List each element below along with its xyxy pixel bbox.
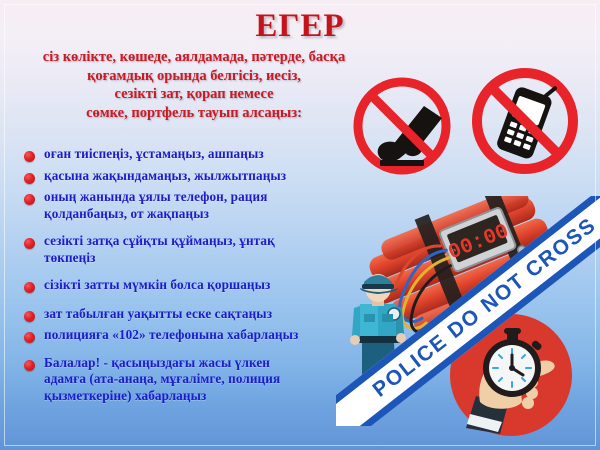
list-item-line: оның жанында ұялы телефон, рация [44, 189, 267, 204]
list-item-line: қызметкеріне) хабарлаңыз [44, 388, 206, 403]
list-item: полицияға «102» телефонына хабарлаңыз [18, 327, 348, 344]
list-item: оған тиіспеңіз, ұстамаңыз, ашпаңыз [18, 146, 348, 163]
list-item: зат табылған уақытты еске сақтаңыз [18, 306, 348, 323]
list-item-label: оған тиіспеңіз, ұстамаңыз, ашпаңыз [44, 146, 264, 163]
list-item-label: қасына жақындамаңыз, жылжытпаңыз [44, 168, 286, 185]
bullet-dot-icon [24, 173, 35, 184]
list-item-label: зат табылған уақытты еске сақтаңыз [44, 306, 272, 323]
no-touch-sign-icon [348, 72, 456, 180]
bullet-dot-icon [24, 311, 35, 322]
instruction-list: оған тиіспеңіз, ұстамаңыз, ашпаңыз қасын… [18, 146, 348, 409]
bullet-dot-icon [24, 360, 35, 371]
stopwatch-illustration [446, 310, 576, 445]
bullet-dot-icon [24, 194, 35, 205]
subtitle-line: сіз көлікте, көшеде, аялдамада, пәтерде,… [18, 48, 370, 67]
list-item-label: полицияға «102» телефонына хабарлаңыз [44, 327, 298, 344]
bullet-dot-icon [24, 332, 35, 343]
list-item-label: Балалар! - қасыңыздағы жасы үлкен адамға… [44, 355, 280, 405]
policeman-illustration [330, 262, 426, 427]
list-item-label: оның жанында ұялы телефон, рация қолданб… [44, 189, 267, 222]
list-item: Балалар! - қасыңыздағы жасы үлкен адамға… [18, 355, 348, 405]
list-item-line: төкпеңіз [44, 250, 95, 265]
list-item-line: қолданбаңыз, от жақпаңыз [44, 206, 209, 221]
list-item-line: Балалар! - қасыңыздағы жасы үлкен [44, 355, 270, 370]
poster-subtitle: сіз көлікте, көшеде, аялдамада, пәтерде,… [18, 48, 370, 122]
list-item: оның жанында ұялы телефон, рация қолданб… [18, 189, 348, 222]
subtitle-line: сезікті зат, қорап немесе [18, 85, 370, 104]
list-item: сізікті затты мүмкін болса қоршаңыз [18, 277, 348, 294]
list-item-label: сізікті затты мүмкін болса қоршаңыз [44, 277, 270, 294]
safety-poster: ЕГЕР сіз көлікте, көшеде, аялдамада, пәт… [0, 0, 600, 450]
list-item-line: сезікті затқа сұйқты құймаңыз, ұнтақ [44, 233, 275, 248]
no-mobile-phone-sign-icon [466, 62, 584, 180]
bullet-dot-icon [24, 238, 35, 249]
page-title: ЕГЕР [0, 8, 600, 45]
list-item-label: сезікті затқа сұйқты құймаңыз, ұнтақ төк… [44, 233, 275, 266]
subtitle-line: сөмке, портфель тауып алсаңыз: [18, 104, 370, 123]
bullet-dot-icon [24, 282, 35, 293]
list-item-line: адамға (ата-анаңа, мұғалімге, полиция [44, 371, 280, 386]
list-item: қасына жақындамаңыз, жылжытпаңыз [18, 168, 348, 185]
bullet-dot-icon [24, 151, 35, 162]
subtitle-line: қоғамдық орында белгісіз, иесіз, [18, 67, 370, 86]
list-item: сезікті затқа сұйқты құймаңыз, ұнтақ төк… [18, 233, 348, 266]
